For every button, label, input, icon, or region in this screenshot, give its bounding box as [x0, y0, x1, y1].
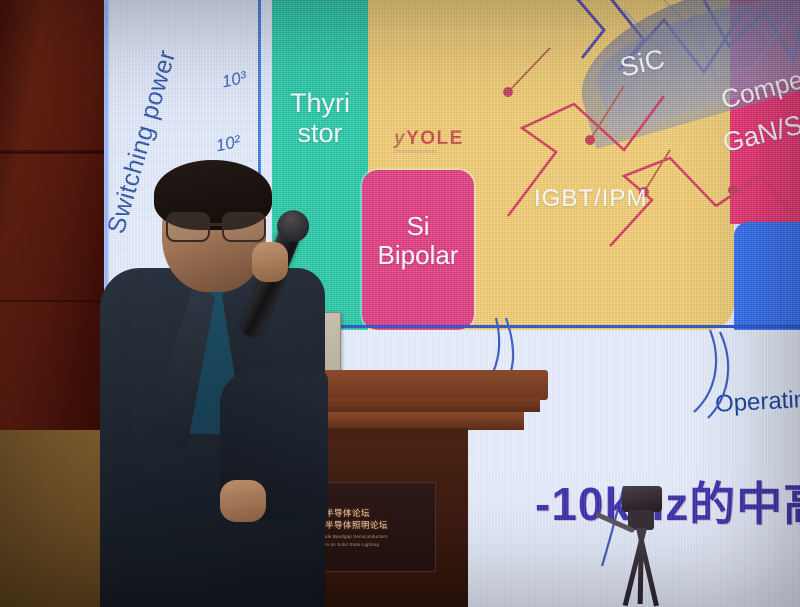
speaker: [100, 160, 330, 607]
tripod-camera: [622, 486, 662, 512]
glasses-lens-right: [222, 212, 266, 242]
microphone-head: [272, 205, 314, 247]
speaker-hand-holding-mic: [252, 242, 288, 282]
glasses-lens-left: [166, 212, 210, 242]
wall-lower-panel: [0, 430, 104, 607]
photo-scene: Switching power 10³ 10² Thyri stor Si Bi…: [0, 0, 800, 607]
tripod-leg: [638, 528, 644, 604]
glasses-bridge: [206, 223, 222, 226]
speaker-glasses: [166, 212, 264, 238]
speaker-hand-lower: [220, 480, 266, 522]
camera-tripod: [592, 486, 702, 607]
